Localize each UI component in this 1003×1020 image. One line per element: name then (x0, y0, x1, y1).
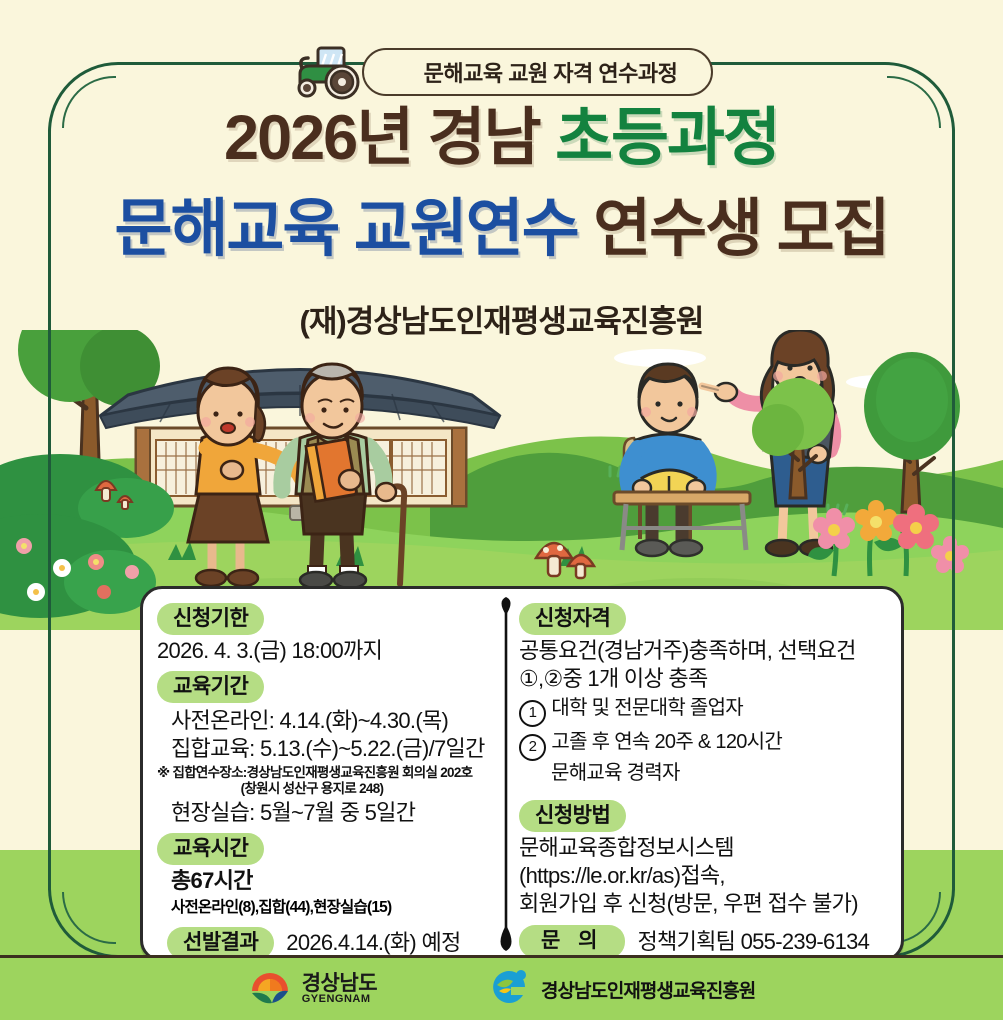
qualification-common: 공통요건(경남거주)충족하며, 선택요건 (519, 637, 888, 665)
institute-logo: 경상남도인재평생교육진흥원 (487, 967, 755, 1012)
circled-one-inline: ① (519, 666, 538, 691)
apply-note: 회원가입 후 신청(방문, 우편 접수 불가) (519, 890, 888, 918)
circled-two-inline: ,② (538, 666, 562, 691)
period-offline: 집합교육: 5.13.(수)~5.22.(금)/7일간 (157, 735, 485, 763)
gyeongnam-logo-main: 경상남도 (302, 973, 377, 994)
gyeongnam-logo-text: 경상남도 GYENGNAM (302, 973, 377, 1006)
title-brown-part: 2026년 경남 (224, 103, 555, 173)
header-badge: 문해교육 교원 자격 연수과정 (362, 48, 714, 96)
gyeongnam-sun-logo-icon (248, 967, 292, 1012)
info-card-left-column: 신청기한 2026. 4. 3.(금) 18:00까지 교육기간 사전온라인: … (143, 589, 495, 959)
gimi-leaf-logo-icon (487, 967, 531, 1012)
page-title-line1: 2026년 경남 초등과정 (0, 107, 1003, 170)
period-note-address: (창원시 성산구 용지로 248) (157, 781, 485, 797)
apply-method-label: 신청방법 (519, 800, 626, 832)
qualification-select-text: 중 1개 이상 충족 (562, 666, 707, 691)
header-badge-row: 문해교육 교원 자격 연수과정 (0, 42, 1003, 102)
hours-label: 교육시간 (157, 833, 264, 865)
deadline-value: 2026. 4. 3.(금) 18:00까지 (157, 637, 485, 665)
info-card: 신청기한 2026. 4. 3.(금) 18:00까지 교육기간 사전온라인: … (140, 586, 904, 962)
tractor-icon (290, 44, 376, 100)
illustration (0, 330, 1003, 630)
circled-number-2: 2 (519, 734, 546, 761)
info-card-right-column: 신청자격 공통요건(경남거주)충족하며, 선택요건 ①,②중 1개 이상 충족 … (495, 589, 898, 959)
period-note-venue: ※ 집합연수장소:경상남도인재평생교육진흥원 회의실 202호 (157, 765, 485, 781)
qualification-item-2-cont: 문해교육 경력자 (519, 761, 888, 786)
result-value: 2026.4.14.(화) 예정 (286, 929, 460, 957)
gyeongnam-logo-sub: GYENGNAM (302, 994, 377, 1005)
title-blue-part: 문해교육 교원연수 (115, 194, 594, 264)
contact-label: 문 의 (519, 925, 625, 957)
apply-url[interactable]: (https://le.or.kr/as)접속, (519, 862, 888, 890)
poster-root: 문해교육 교원 자격 연수과정 2026년 경남 초등과정 문해교육 교원연수 … (0, 0, 1003, 1020)
period-online: 사전온라인: 4.14.(화)~4.30.(목) (157, 707, 485, 735)
footer-logo-band: 경상남도 GYENGNAM 경상남도인재평생교육진흥원 (0, 955, 1003, 1020)
hours-total: 총67시간 (157, 867, 485, 895)
apply-system-name: 문해교육종합정보시스템 (519, 834, 888, 862)
qualification-item-1-text: 대학 및 전문대학 졸업자 (551, 697, 743, 719)
qualification-item-1: 1 대학 및 전문대학 졸업자 (519, 693, 888, 727)
page-title-line2: 문해교육 교원연수 연수생 모집 (0, 198, 1003, 261)
qualification-label: 신청자격 (519, 603, 626, 635)
title-brown-part2: 연수생 모집 (593, 194, 888, 264)
period-label: 교육기간 (157, 671, 264, 703)
qualification-item-2: 2 고졸 후 연속 20주 & 120시간 (519, 727, 888, 761)
page-subtitle: (재)경상남도인재평생교육진흥원 (0, 296, 1003, 341)
period-field-practice: 현장실습: 5월~7월 중 5일간 (157, 799, 485, 827)
contact-value: 정책기획팀 055-239-6134 (637, 928, 869, 956)
institute-logo-text: 경상남도인재평생교육진흥원 (541, 976, 755, 1003)
hours-breakdown: 사전온라인(8),집합(44),현장실습(15) (157, 895, 485, 917)
qualification-select-rule: ①,②중 1개 이상 충족 (519, 665, 888, 693)
qualification-item-2-text: 고졸 후 연속 20주 & 120시간 (551, 731, 782, 753)
deadline-label: 신청기한 (157, 603, 264, 635)
circled-number-1: 1 (519, 700, 546, 727)
title-green-part: 초등과정 (555, 103, 779, 173)
gyeongnam-logo: 경상남도 GYENGNAM (248, 967, 377, 1012)
